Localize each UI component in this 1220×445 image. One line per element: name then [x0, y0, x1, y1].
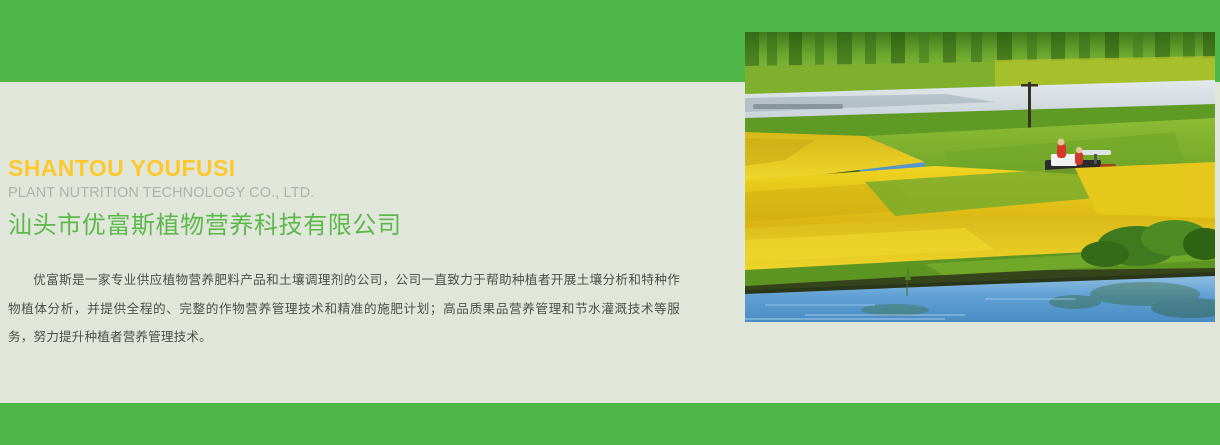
company-intro-block: SHANTOU YOUFUSI PLANT NUTRITION TECHNOLO…: [0, 155, 720, 352]
bottom-green-band: [0, 403, 1220, 445]
company-tagline-english: PLANT NUTRITION TECHNOLOGY CO., LTD.: [0, 183, 720, 204]
company-name-english: SHANTOU YOUFUSI: [0, 155, 720, 182]
company-name-chinese: 汕头市优富斯植物营养科技有限公司: [0, 208, 720, 244]
rice-field-harvest-photo: [745, 32, 1215, 322]
company-description-paragraph: 优富斯是一家专业供应植物营养肥料产品和土壤调理剂的公司，公司一直致力于帮助种植者…: [0, 266, 700, 352]
rice-field-illustration: [745, 32, 1215, 322]
promo-page: SHANTOU YOUFUSI PLANT NUTRITION TECHNOLO…: [0, 0, 1220, 445]
